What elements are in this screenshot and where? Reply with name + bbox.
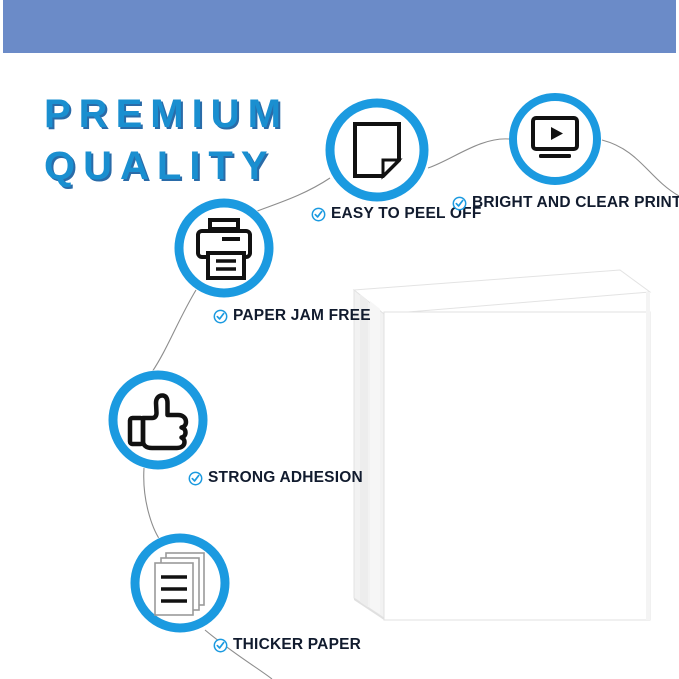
ring — [113, 375, 203, 465]
feature-label-text: STRONG ADHESION — [208, 469, 363, 487]
feature-label-text: THICKER PAPER — [233, 636, 361, 654]
connector-thumb-to-printer — [152, 290, 196, 372]
feature-label-bright-and-clear-printing: BRIGHT AND CLEAR PRINTING — [452, 194, 679, 212]
check-badge-icon — [213, 638, 228, 653]
page-title-line1: PREMIUM — [44, 92, 289, 136]
check-badge-icon — [188, 471, 203, 486]
check-badge-icon — [452, 196, 467, 211]
check-badge-icon — [213, 309, 228, 324]
product-paper-stack — [352, 268, 652, 648]
infographic-canvas: PREMIUM QUALITY — [0, 0, 679, 679]
top-banner — [3, 0, 676, 53]
feature-label-thicker-paper: THICKER PAPER — [213, 636, 361, 654]
check-badge-icon — [311, 207, 326, 222]
feature-circle-strong-adhesion[interactable] — [108, 370, 208, 470]
feature-label-strong-adhesion: STRONG ADHESION — [188, 469, 363, 487]
feature-circle-bright-and-clear-printing[interactable] — [509, 93, 601, 185]
page-title: PREMIUM QUALITY — [44, 88, 289, 192]
feature-label-text: PAPER JAM FREE — [233, 307, 371, 325]
connector-monitor-right — [602, 140, 679, 196]
feature-circle-thicker-paper[interactable] — [130, 533, 230, 633]
feature-label-paper-jam-free: PAPER JAM FREE — [213, 307, 371, 325]
connector-peel-to-monitor — [428, 139, 509, 168]
feature-circle-paper-jam-free[interactable] — [174, 198, 274, 298]
feature-label-text: BRIGHT AND CLEAR PRINTING — [472, 194, 679, 212]
page-title-line2: QUALITY — [44, 144, 276, 188]
connector-thicker-to-thumb — [144, 468, 160, 540]
feature-circle-easy-to-peel-off[interactable] — [325, 98, 429, 202]
stacked-sheets-icon — [155, 553, 204, 615]
